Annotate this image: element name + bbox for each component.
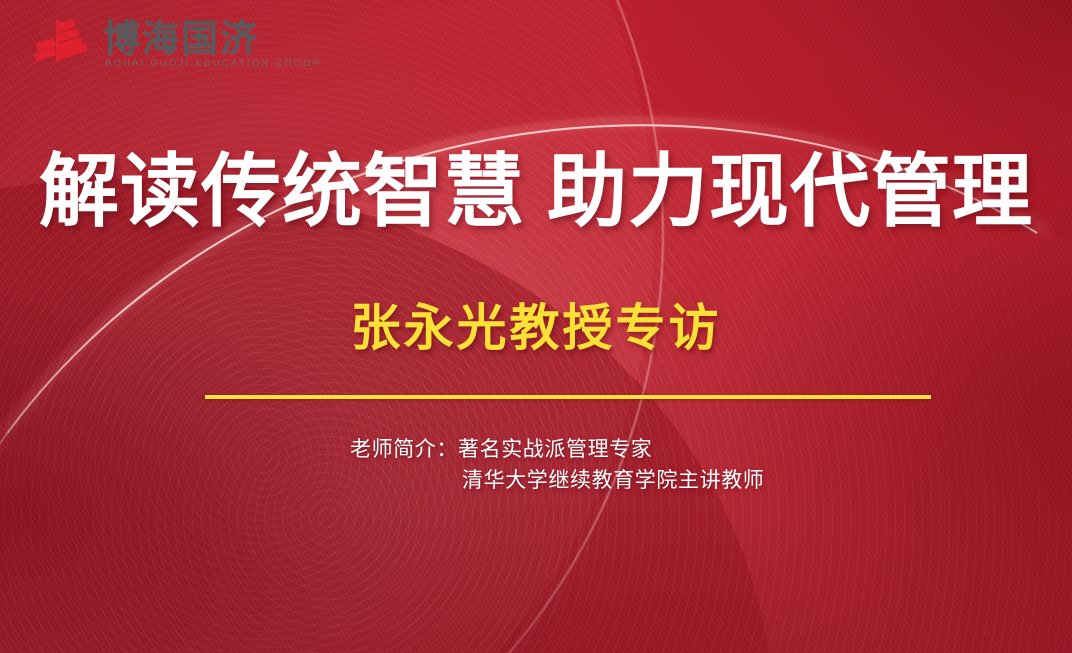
- instructor-credits: 老师简介：著名实战派管理专家 清华大学继续教育学院主讲教师: [350, 434, 764, 496]
- brand-logo: 博海国济 BOHAI GUOJI EDUCATION GROUP: [28, 18, 321, 70]
- credits-line-1: 老师简介：著名实战派管理专家: [350, 434, 764, 465]
- logo-name-cn: 博海国济: [103, 20, 321, 57]
- promo-poster: 博海国济 BOHAI GUOJI EDUCATION GROUP 解读传统智慧助…: [0, 0, 1072, 653]
- subtitle: 张永光教授专访: [0, 303, 1072, 353]
- book-pages-icon: [28, 18, 90, 70]
- headline-part-1: 解读传统智慧: [39, 147, 525, 236]
- yellow-divider-line: [205, 395, 931, 399]
- headline-part-2: 助力现代管理: [547, 147, 1033, 236]
- credits-line-2: 清华大学继续教育学院主讲教师: [350, 465, 764, 496]
- logo-wordmark: 博海国济 BOHAI GUOJI EDUCATION GROUP: [103, 20, 321, 69]
- headline: 解读传统智慧助力现代管理: [0, 152, 1072, 232]
- logo-name-en: BOHAI GUOJI EDUCATION GROUP: [103, 59, 321, 69]
